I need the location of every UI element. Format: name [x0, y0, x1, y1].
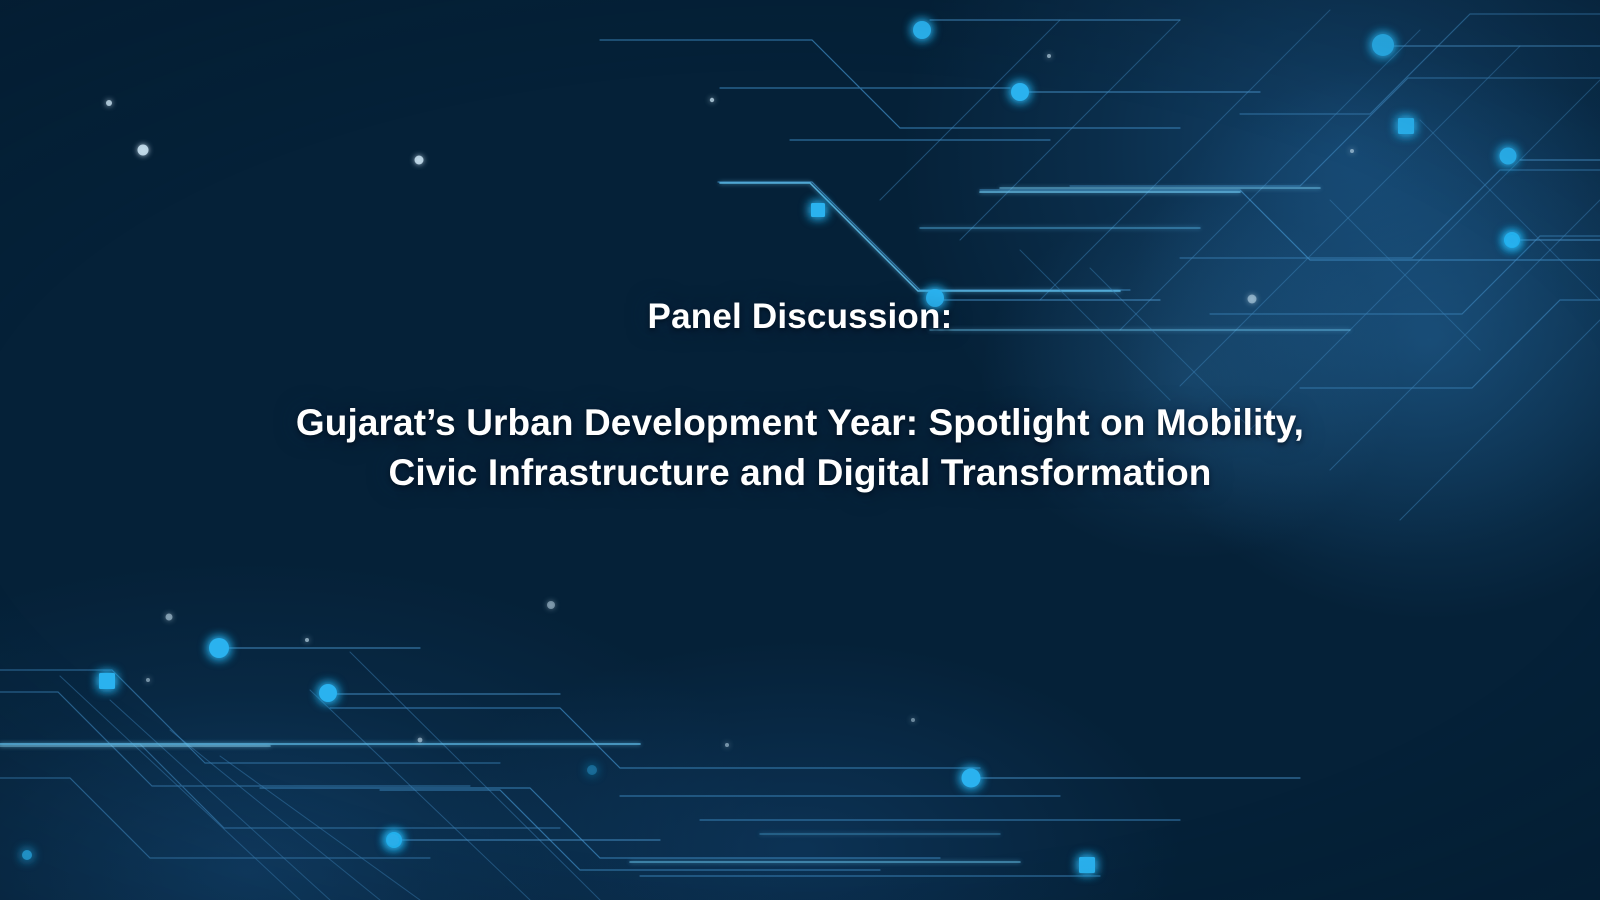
- circuit-dot: [710, 98, 714, 102]
- circuit-node-circle: [913, 21, 931, 39]
- circuit-dot: [587, 765, 597, 775]
- circuit-node-circle: [319, 684, 337, 702]
- circuit-dot: [547, 601, 555, 609]
- circuit-node-circle: [1372, 34, 1394, 56]
- circuit-dot: [22, 850, 32, 860]
- circuit-dot: [415, 156, 424, 165]
- circuit-node-square: [1398, 118, 1414, 134]
- slide-canvas: Panel Discussion: Gujarat’s Urban Develo…: [0, 0, 1600, 900]
- circuit-dot: [106, 100, 112, 106]
- circuit-dot: [725, 743, 729, 747]
- circuit-dot: [138, 145, 149, 156]
- circuit-node-circle: [1500, 148, 1517, 165]
- circuit-dot: [418, 738, 423, 743]
- page-title-line-2: Civic Infrastructure and Digital Transfo…: [0, 448, 1600, 498]
- circuit-node-circle: [209, 638, 229, 658]
- circuit-node-square: [811, 203, 825, 217]
- circuit-node-square: [1079, 857, 1095, 873]
- circuit-dot: [146, 678, 150, 682]
- circuit-dot: [305, 638, 309, 642]
- panel-kicker-label: Panel Discussion:: [0, 296, 1600, 338]
- circuit-node-circle: [962, 769, 981, 788]
- circuit-dot: [166, 614, 173, 621]
- circuit-dot: [1506, 235, 1518, 247]
- circuit-dot: [387, 834, 399, 846]
- page-title: Gujarat’s Urban Development Year: Spotli…: [0, 398, 1600, 498]
- page-title-line-1: Gujarat’s Urban Development Year: Spotli…: [296, 402, 1304, 443]
- circuit-node-square: [99, 673, 115, 689]
- circuit-dot: [911, 718, 915, 722]
- title-block: Panel Discussion: Gujarat’s Urban Develo…: [0, 296, 1600, 498]
- circuit-dot: [1350, 149, 1354, 153]
- circuit-node-circle: [1011, 83, 1029, 101]
- circuit-dot: [1047, 54, 1051, 58]
